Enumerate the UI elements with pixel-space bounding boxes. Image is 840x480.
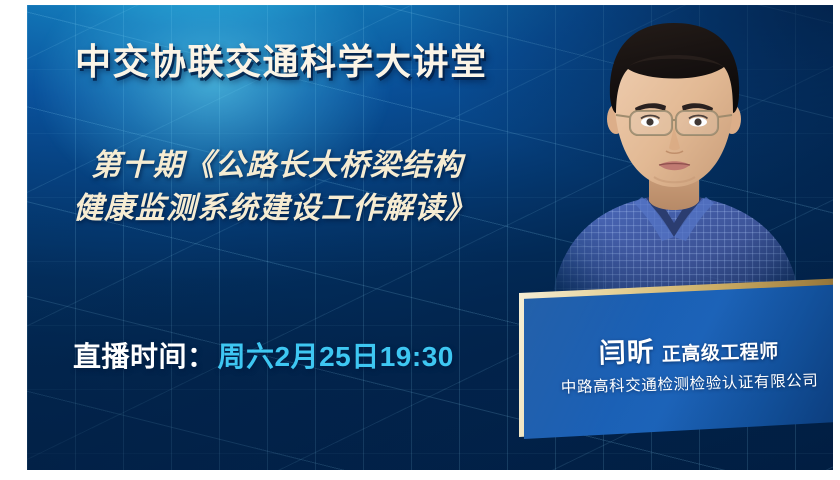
poster-subtitle: 第十期《公路长大桥梁结构 健康监测系统建设工作解读》	[73, 145, 476, 230]
portrait-photo	[542, 5, 807, 301]
poster-subtitle-line1: 第十期《公路长大桥梁结构	[73, 145, 476, 188]
portrait-illustration	[542, 5, 807, 301]
poster-root: 闫昕正高级工程师 中路高科交通检测检验认证有限公司 中交协联交通科学大讲堂 第十…	[0, 0, 840, 480]
live-time-label: 直播时间：	[73, 341, 216, 372]
poster-artboard: 闫昕正高级工程师 中路高科交通检测检验认证有限公司 中交协联交通科学大讲堂 第十…	[27, 5, 833, 470]
poster-main-title: 中交协联交通科学大讲堂	[75, 33, 488, 85]
speaker-plate-sheen	[524, 283, 833, 439]
speaker-plate	[524, 283, 833, 439]
live-time-row: 直播时间：周六2月25日19:30	[73, 335, 454, 375]
live-time-value: 周六2月25日19:30	[218, 341, 454, 372]
portrait-mask	[542, 5, 807, 301]
poster-subtitle-line2: 健康监测系统建设工作解读》	[73, 188, 476, 231]
